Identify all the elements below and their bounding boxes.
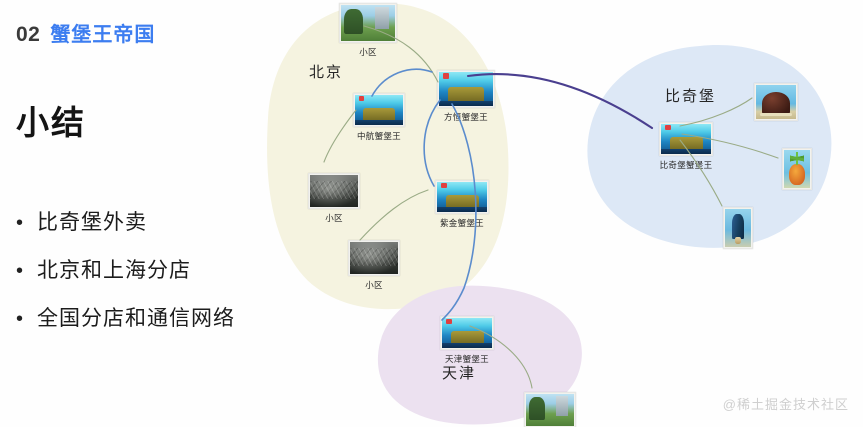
left-text-panel: 02 蟹堡王帝国 小结 •比奇堡外卖•北京和上海分店•全国分店和通信网络 [0, 0, 268, 427]
edge-fangheng-tianjin [442, 104, 476, 320]
edge-fangheng-zijin [424, 100, 440, 186]
bullet-dot-icon: • [16, 306, 23, 332]
page-title: 小结 [16, 96, 86, 144]
bullet-text: 比奇堡外卖 [37, 210, 147, 236]
edge-zhonghang-district2 [324, 110, 356, 162]
bullet-text: 北京和上海分店 [37, 258, 191, 284]
bullet-dot-icon: • [16, 258, 23, 284]
slide-number: 02 [16, 23, 40, 47]
bullet-item: •比奇堡外卖 [16, 210, 268, 236]
bullet-item: •全国分店和通信网络 [16, 306, 268, 332]
edge-district1-fangheng [364, 26, 438, 82]
edge-bikini-rocket [680, 140, 722, 206]
bullet-text: 全国分店和通信网络 [37, 306, 235, 332]
watermark: @稀土掘金技术社区 [723, 394, 849, 413]
edge-fangheng-bikini [468, 74, 652, 128]
bullet-dot-icon: • [16, 210, 23, 236]
slide-section-title: 蟹堡王帝国 [50, 18, 155, 47]
bullet-item: •北京和上海分店 [16, 258, 268, 284]
summary-bullet-list: •比奇堡外卖•北京和上海分店•全国分店和通信网络 [16, 210, 268, 354]
edge-zhonghang-fangheng [372, 69, 432, 96]
edge-bikini-pineapple [682, 134, 778, 158]
edge-bikini-moai [680, 98, 752, 126]
edge-tianjin-district [470, 326, 532, 388]
edge-district3-zijin [360, 190, 428, 240]
slide-header: 02 蟹堡王帝国 [16, 18, 155, 47]
slide-canvas: 小区中航蟹堡王方恒蟹堡王小区紫金蟹堡王小区比奇堡蟹堡王天津蟹堡王小区 北京比奇堡… [0, 0, 863, 427]
